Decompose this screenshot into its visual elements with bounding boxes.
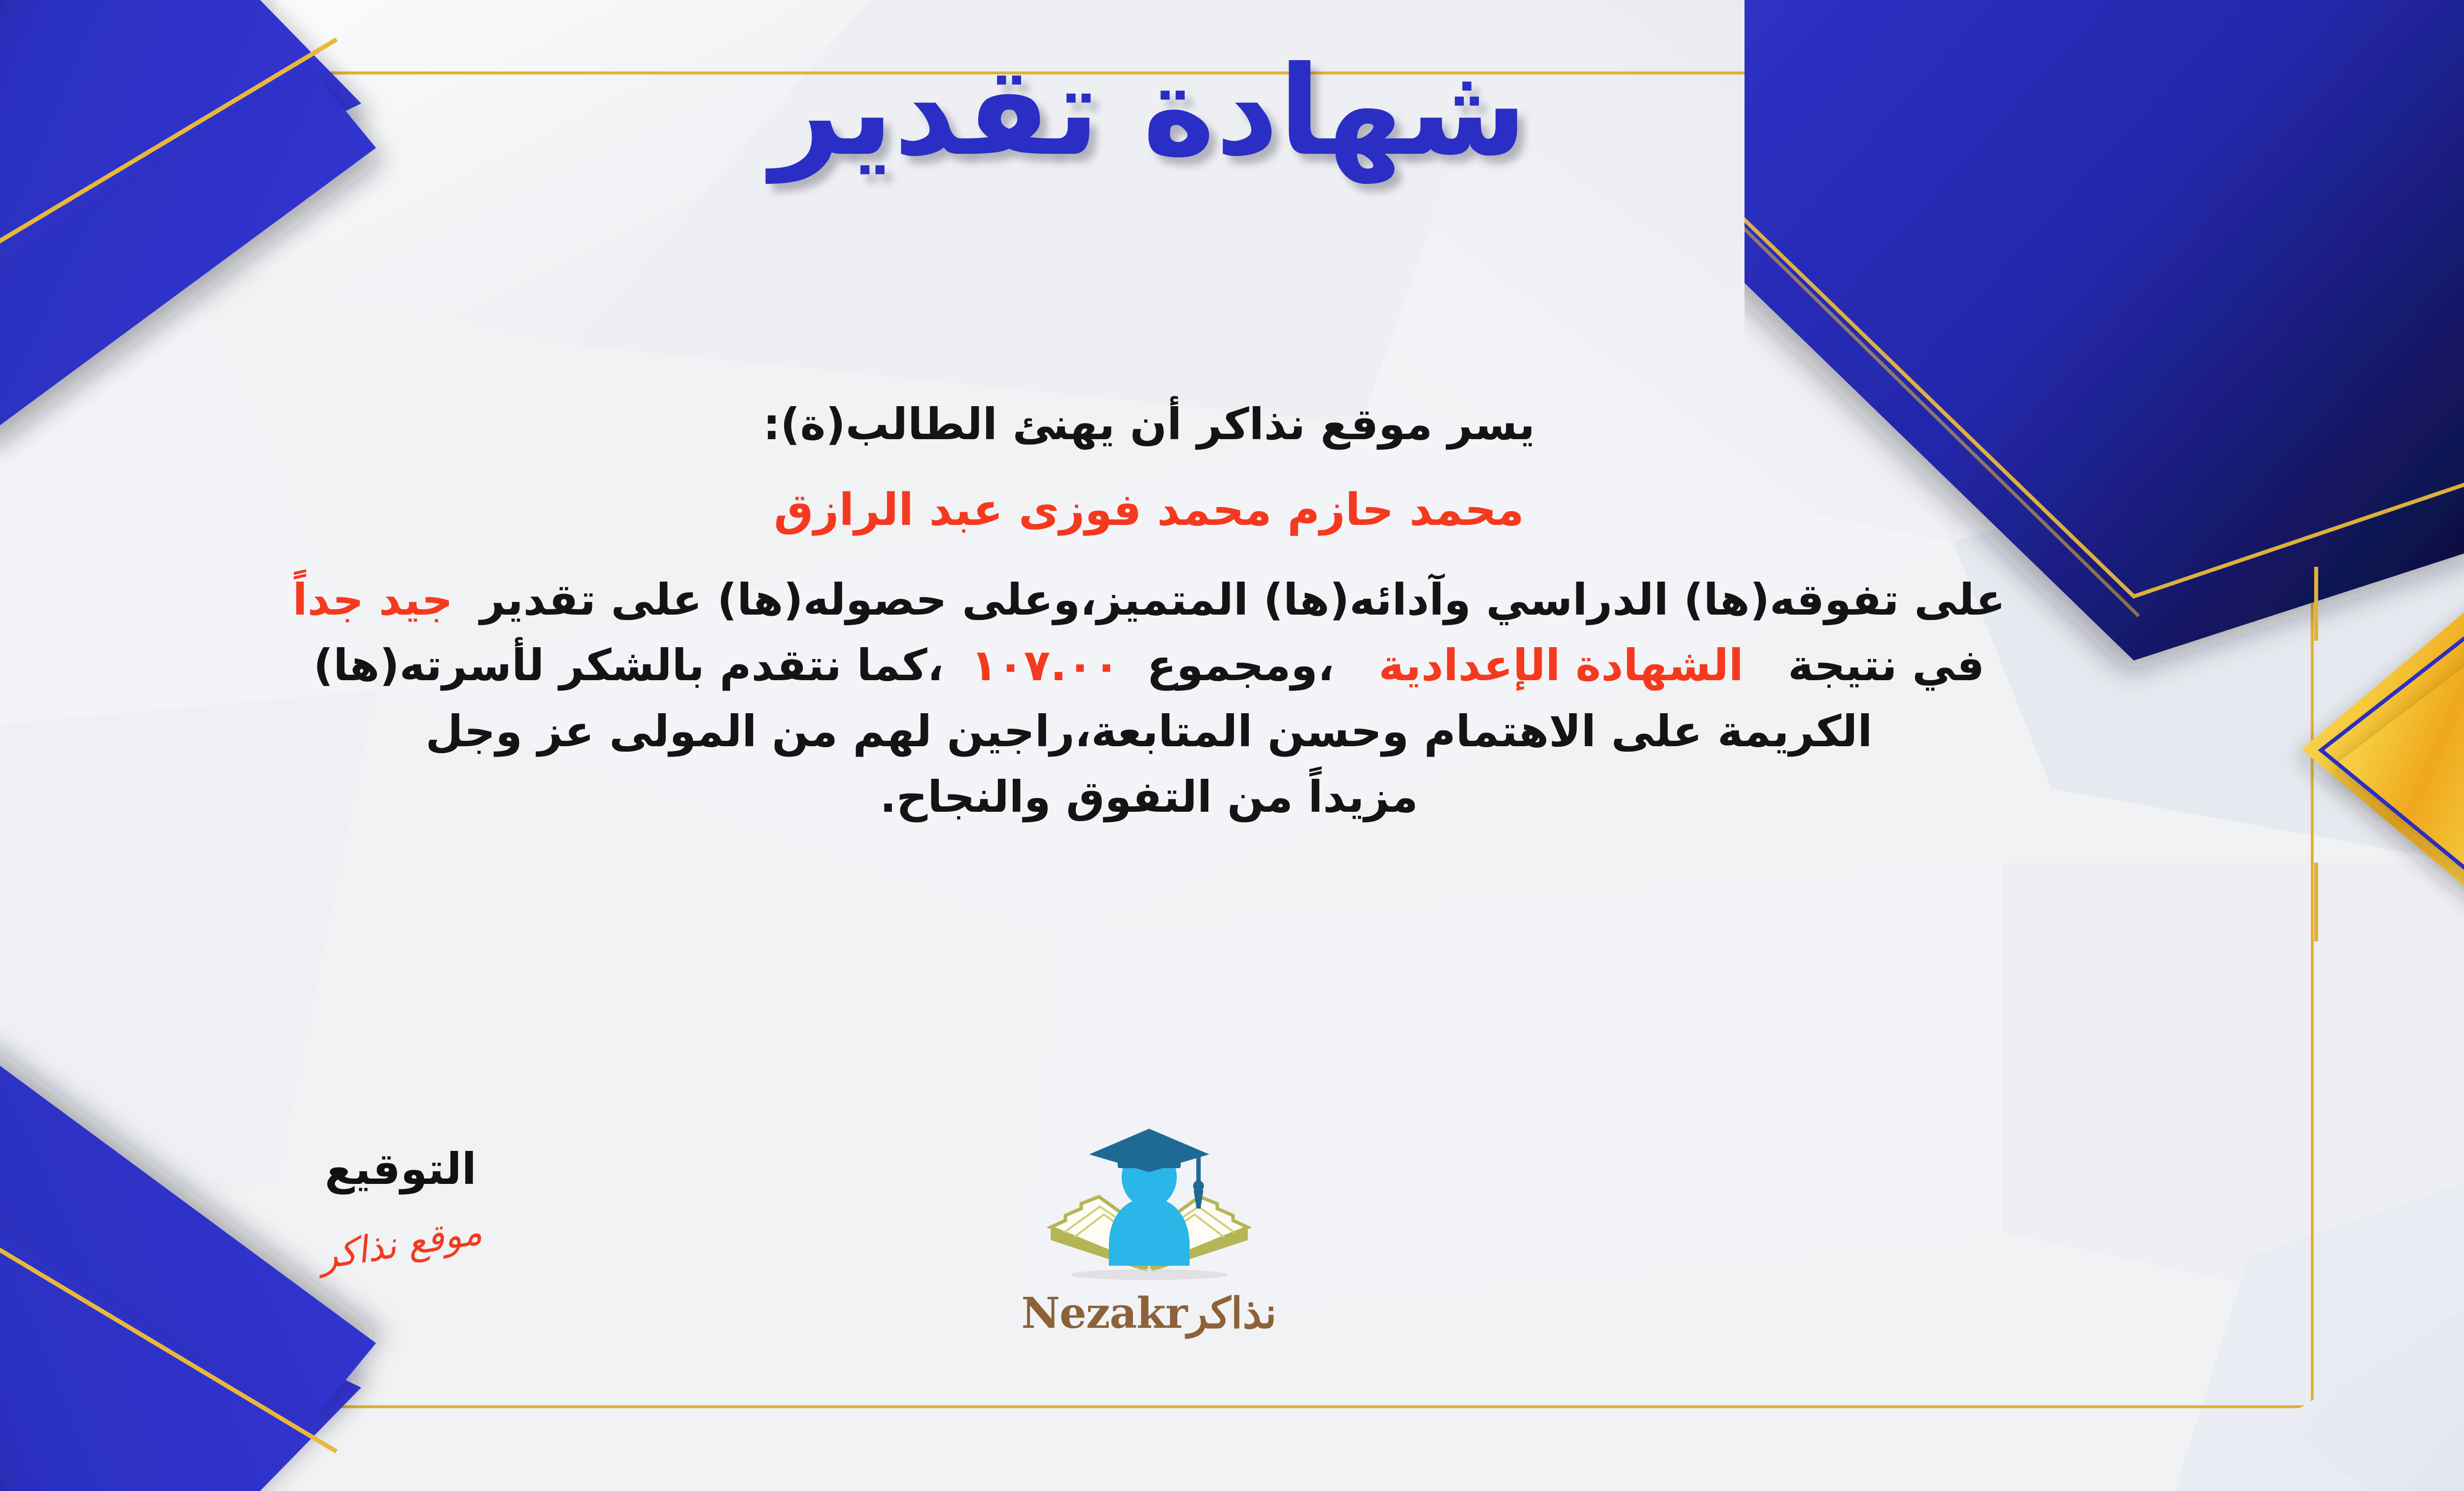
site-logo: نذاكرNezakr <box>947 1124 1351 1338</box>
citation-paragraph: على تفوقه(ها) الدراسي وآدائه(ها) المتميز… <box>0 570 2370 827</box>
student-name: محمد حازم محمد فوزى عبد الرازق <box>0 480 2370 541</box>
logo-wordmark: نذاكرNezakr <box>947 1288 1351 1338</box>
total-score: ١٠٧.٠٠ <box>971 640 1120 691</box>
certificate-name: الشهادة الإعدادية <box>1378 640 1744 691</box>
citation-line-3: الكريمة على الاهتمام وحسن المتابعة،راجين… <box>0 701 2370 761</box>
citation-line-2-suffix: ،كما نتقدم بالشكر لأسرته(ها) <box>313 640 944 691</box>
page-title: شهادة تقدير <box>0 47 2464 176</box>
certificate-page: شهادة تقدير يسر موقع نذاكر أن يهنئ الطال… <box>0 0 2464 1491</box>
citation-line-4: مزيداً من التفوق والنجاح. <box>0 767 2370 827</box>
certificate-content: شهادة تقدير يسر موقع نذاكر أن يهنئ الطال… <box>0 0 2464 1491</box>
certificate-body: يسر موقع نذاكر أن يهنئ الطالب(ة): محمد ح… <box>0 394 2370 832</box>
signature-block: التوقيع موقع نذاكر <box>228 1144 573 1265</box>
citation-line-2-prefix: في نتيجة <box>1788 640 1985 691</box>
logo-name-latin: Nezakr <box>1021 1288 1187 1338</box>
logo-name-arabic: نذاكر <box>1187 1288 1276 1338</box>
signature-mark: موقع نذاكر <box>316 1211 485 1278</box>
intro-line: يسر موقع نذاكر أن يهنئ الطالب(ة): <box>0 394 2370 454</box>
citation-line-2-middle: ،ومجموع <box>1147 640 1334 691</box>
citation-line-1: على تفوقه(ها) الدراسي وآدائه(ها) المتميز… <box>0 570 2370 629</box>
citation-line-1-text: على تفوقه(ها) الدراسي وآدائه(ها) المتميز… <box>480 574 2005 625</box>
signature-label: التوقيع <box>228 1144 573 1194</box>
citation-line-2: في نتيجةالشهادة الإعدادية،ومجموع١٠٧.٠٠،ك… <box>0 635 2370 695</box>
graduation-book-icon <box>1036 1124 1263 1286</box>
grade-value: جيد جداً <box>293 574 453 625</box>
